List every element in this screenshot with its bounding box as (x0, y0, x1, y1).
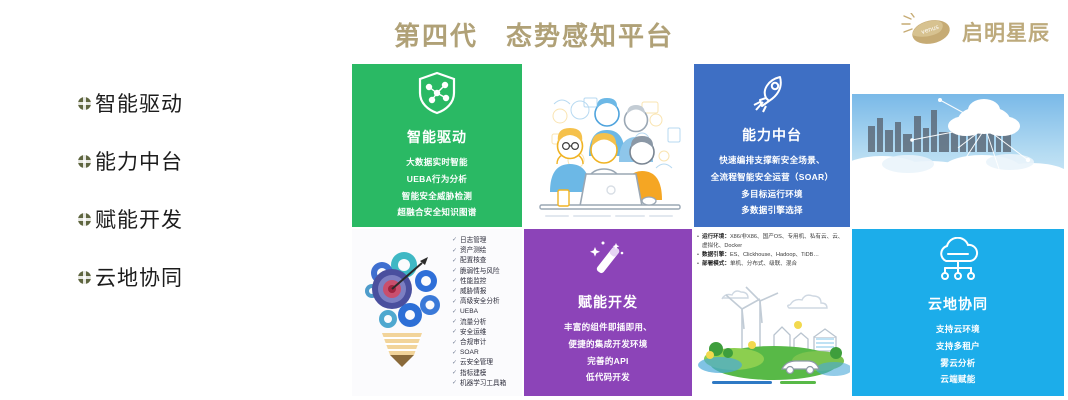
panel-capability-platform[interactable]: 能力中台 快速编排支撑新安全场景、 全流程智能安全运营（SOAR） 多目标运行环… (694, 64, 850, 227)
list-item: ✓日志管理 (452, 236, 520, 246)
panel-line: 多数据引擎选择 (741, 202, 803, 219)
panel-line: 云端赋能 (940, 371, 975, 388)
logo-text: 启明星辰 (962, 17, 1050, 47)
list-item-label: 日志管理 (460, 236, 486, 246)
list-item: • 部署模式：单机、分布式、级联、混合 (697, 260, 848, 269)
bullet-dot-icon (78, 97, 91, 110)
team-around-laptop-illustration (524, 64, 692, 227)
spec-key: 运行环境： (702, 234, 730, 240)
list-item-label: 云安全管理 (460, 358, 493, 368)
check-icon: ✓ (452, 359, 457, 368)
panel-line: 超融合安全知识图谱 (397, 204, 476, 221)
check-icon: ✓ (452, 369, 457, 378)
rocket-icon (750, 72, 794, 119)
spec-value: 单机、分布式、级联、混合 (730, 261, 797, 267)
panel-enabling-development[interactable]: 赋能开发 丰富的组件即插即用、 便捷的集成开发环境 完善的API 低代码开发 (524, 229, 692, 396)
check-icon: ✓ (452, 287, 457, 296)
panel-grid: 智能驱动 大数据实时智能 UEBA行为分析 智能安全威胁检测 超融合安全知识图谱 (352, 64, 1064, 396)
check-icon: ✓ (452, 379, 457, 388)
comet-star-logo-icon: venus (900, 13, 956, 51)
check-icon: ✓ (452, 308, 457, 317)
list-item-label: 资产测绘 (460, 246, 486, 256)
panel-line: 雾云分析 (940, 355, 975, 372)
list-item-label: 威胁情报 (460, 287, 486, 297)
list-item-label: 合规审计 (460, 338, 486, 348)
panel-title: 赋能开发 (578, 292, 638, 312)
panel-cloud-ground-collaboration[interactable]: 云地协同 支持云环境 支持多租户 雾云分析 云端赋能 (852, 229, 1064, 396)
panel-title: 能力中台 (742, 125, 802, 145)
panel-team-illustration (524, 64, 692, 227)
list-item-label: 指标建模 (460, 369, 486, 379)
sidebar-item-label: 云地协同 (95, 262, 183, 292)
list-item-label: UEBA (460, 307, 478, 317)
list-item-label: 性能监控 (460, 277, 486, 287)
spec-key: 数据引擎： (702, 252, 730, 258)
list-item: ✓性能监控 (452, 277, 520, 287)
check-icon: ✓ (452, 328, 457, 337)
panel-title: 智能驱动 (407, 127, 467, 147)
magic-wand-icon (586, 239, 630, 286)
check-icon: ✓ (452, 318, 457, 327)
check-icon: ✓ (452, 267, 457, 276)
list-item: ✓云安全管理 (452, 358, 520, 368)
panel-line: UEBA行为分析 (407, 171, 468, 188)
checklist: ✓日志管理 ✓资产测绘 ✓配置核查 ✓脆弱性与风险 ✓性能监控 ✓威胁情报 ✓高… (452, 232, 522, 393)
header: 第四代 态势感知平台 venus 启明星辰 (0, 0, 1068, 62)
sidebar-item-label: 智能驱动 (95, 88, 183, 118)
list-item: ✓高级安全分析 (452, 297, 520, 307)
check-icon: ✓ (452, 339, 457, 348)
panel-line: 智能安全威胁检测 (402, 188, 472, 205)
sidebar-item-label: 赋能开发 (95, 204, 183, 234)
list-item: ✓资产测绘 (452, 246, 520, 256)
list-item: ✓流量分析 (452, 318, 520, 328)
check-icon: ✓ (452, 247, 457, 256)
panel-line: 支持多租户 (936, 338, 980, 355)
slide-root: 第四代 态势感知平台 venus 启明星辰 (0, 0, 1068, 400)
shield-network-icon (416, 70, 458, 121)
eco-green-city-wind-turbine-illustration (694, 269, 850, 396)
list-item: ✓指标建模 (452, 369, 520, 379)
list-item: ✓脆弱性与风险 (452, 267, 520, 277)
list-item-label: SOAR (460, 348, 479, 358)
list-item: ✓合规审计 (452, 338, 520, 348)
gear-lightbulb-target-illustration (352, 229, 452, 396)
check-icon: ✓ (452, 257, 457, 266)
list-item: ✓SOAR (452, 348, 520, 358)
list-item-label: 配置核查 (460, 256, 486, 266)
check-icon: ✓ (452, 277, 457, 286)
list-item-label: 安全运维 (460, 328, 486, 338)
list-item: ✓安全运维 (452, 328, 520, 338)
list-item: • 运行环境：X86/非X86、国产OS、专用机、私有云、云、虚拟化、Docke… (697, 233, 848, 251)
panel-line: 快速编排支撑新安全场景、 (719, 152, 825, 169)
cloud-network-icon (931, 237, 985, 288)
panel-line: 丰富的组件即插即用、 (564, 319, 652, 336)
panel-line: 便捷的集成开发环境 (568, 336, 647, 353)
sidebar-item-intelligent-drive[interactable]: 智能驱动 (78, 74, 288, 132)
panel-intelligent-drive[interactable]: 智能驱动 大数据实时智能 UEBA行为分析 智能安全威胁检测 超融合安全知识图谱 (352, 64, 522, 227)
panel-line: 大数据实时智能 (406, 154, 468, 171)
panel-line: 低代码开发 (586, 369, 630, 386)
sidebar-item-cloud-ground-collaboration[interactable]: 云地协同 (78, 248, 288, 306)
panel-line: 完善的API (587, 353, 628, 370)
list-item-label: 机器学习工具箱 (460, 379, 506, 389)
bullet-dot-icon (78, 213, 91, 226)
brand-logo: venus 启明星辰 (900, 10, 1050, 54)
list-item: ✓配置核查 (452, 256, 520, 266)
spec-list: • 运行环境：X86/非X86、国产OS、专用机、私有云、云、虚拟化、Docke… (694, 229, 850, 269)
panel-platform-specs: • 运行环境：X86/非X86、国产OS、专用机、私有云、云、虚拟化、Docke… (694, 229, 850, 396)
check-icon: ✓ (452, 349, 457, 358)
panel-line: 支持云环境 (936, 321, 980, 338)
bullet-dot-icon (78, 271, 91, 284)
check-icon: ✓ (452, 298, 457, 307)
list-item-label: 流量分析 (460, 318, 486, 328)
list-item-label: 脆弱性与风险 (460, 267, 500, 277)
list-item: • 数据引擎：ES、Clickhouse、Hadoop、TiDB… (697, 251, 848, 260)
bullet-icon: • (697, 260, 699, 269)
cloud-city-network-photo (852, 64, 1064, 227)
list-item: ✓UEBA (452, 307, 520, 317)
check-icon: ✓ (452, 236, 457, 245)
sidebar: 智能驱动 能力中台 赋能开发 云地协同 (78, 74, 288, 306)
list-item: ✓威胁情报 (452, 287, 520, 297)
panel-line: 多目标运行环境 (741, 186, 803, 203)
list-item-label: 高级安全分析 (460, 297, 500, 307)
bullet-icon: • (697, 251, 699, 260)
panel-line: 全流程智能安全运营（SOAR） (711, 169, 834, 186)
sidebar-item-capability-platform[interactable]: 能力中台 (78, 132, 288, 190)
bullet-icon: • (697, 233, 699, 251)
list-item: ✓机器学习工具箱 (452, 379, 520, 389)
sidebar-item-label: 能力中台 (95, 146, 183, 176)
bullet-dot-icon (78, 155, 91, 168)
sidebar-item-enabling-development[interactable]: 赋能开发 (78, 190, 288, 248)
panel-cloud-city-photo (852, 64, 1064, 227)
spec-value: ES、Clickhouse、Hadoop、TiDB… (730, 252, 819, 258)
spec-key: 部署模式： (702, 261, 730, 267)
panel-title: 云地协同 (928, 294, 988, 314)
panel-capability-checklist: ✓日志管理 ✓资产测绘 ✓配置核查 ✓脆弱性与风险 ✓性能监控 ✓威胁情报 ✓高… (352, 229, 522, 396)
